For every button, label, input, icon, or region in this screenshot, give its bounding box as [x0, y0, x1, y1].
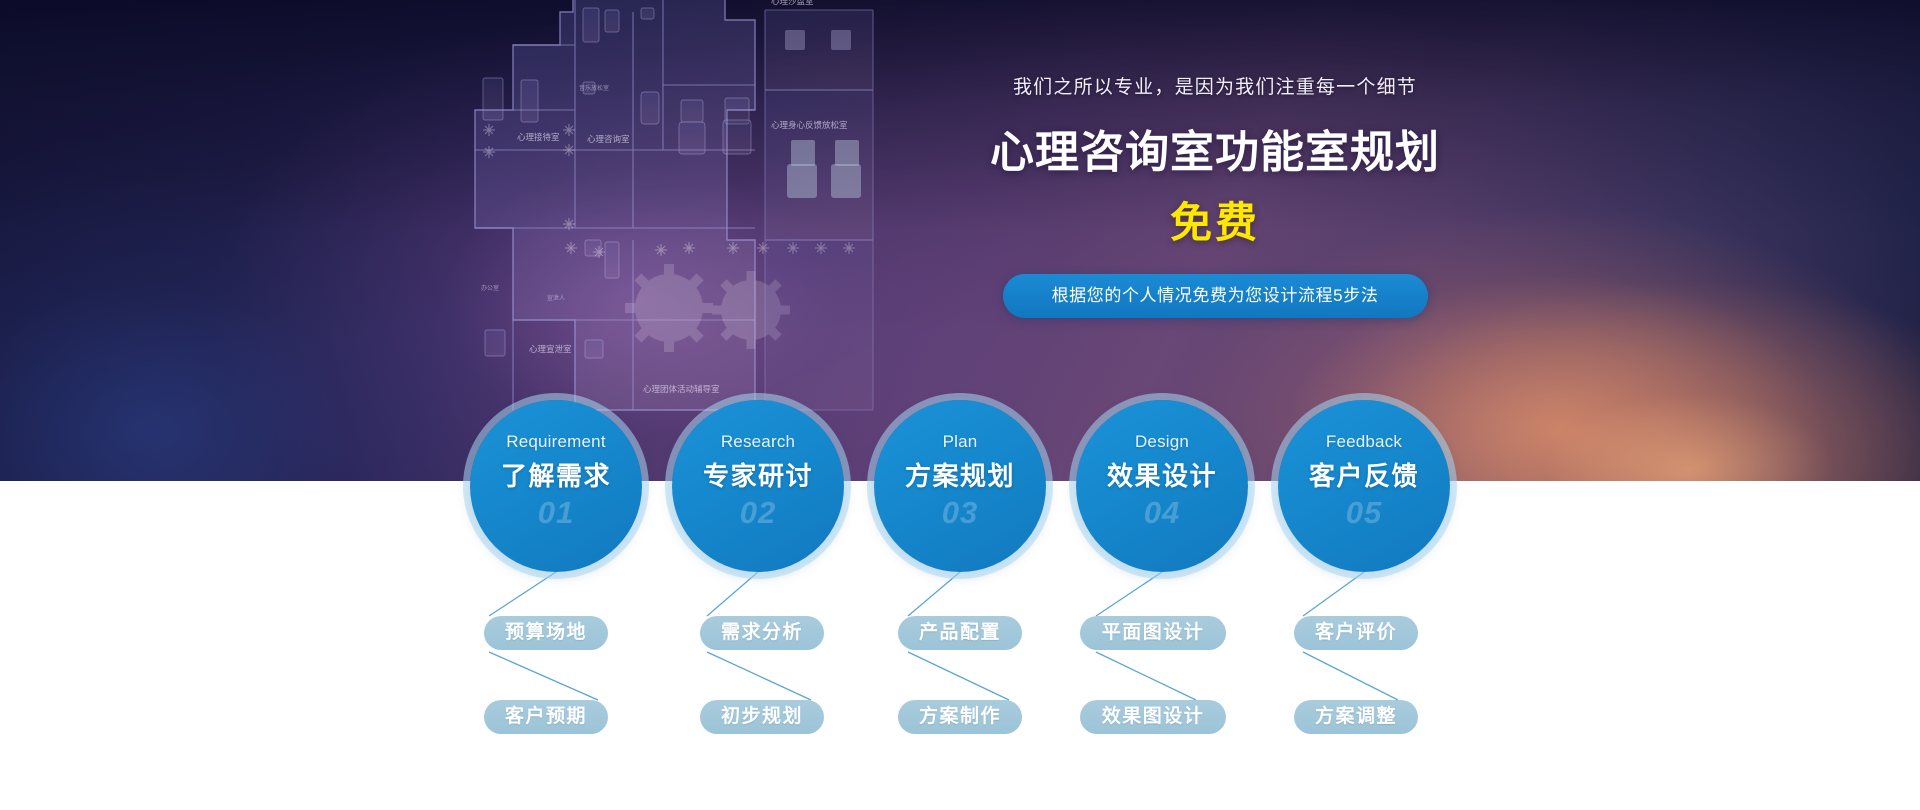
svg-text:音乐放松室: 音乐放松室 [579, 84, 609, 92]
step-5-tag-2[interactable]: 方案调整 [1294, 700, 1418, 734]
step-4-chinese: 效果设计 [1107, 456, 1217, 493]
svg-text:心理身心反馈放松室: 心理身心反馈放松室 [771, 120, 848, 130]
hero-subtitle: 我们之所以专业，是因为我们注重每一个细节 [955, 72, 1475, 99]
step-circle-3[interactable]: Plan 方案规划 03 [874, 400, 1046, 572]
step-1-number: 01 [538, 495, 574, 531]
step-3-tag-2[interactable]: 方案制作 [898, 700, 1022, 734]
step-2-english: Research [721, 432, 795, 452]
svg-text:宣泄人: 宣泄人 [547, 294, 565, 302]
svg-text:心理团体活动辅导室: 心理团体活动辅导室 [643, 384, 720, 394]
step-4-number: 04 [1144, 495, 1180, 531]
svg-text:心理接待室: 心理接待室 [517, 132, 560, 142]
step-5-chinese: 客户反馈 [1309, 456, 1419, 493]
step-4-tag-2[interactable]: 效果图设计 [1080, 700, 1226, 734]
step-circle-2[interactable]: Research 专家研讨 02 [672, 400, 844, 572]
svg-text:心理沙盘室: 心理沙盘室 [771, 0, 814, 6]
floorplan-right-wing [765, 10, 873, 410]
step-5-number: 05 [1346, 495, 1382, 531]
step-5-tag-1[interactable]: 客户评价 [1294, 616, 1418, 650]
step-circle-4[interactable]: Design 效果设计 04 [1076, 400, 1248, 572]
svg-text:心理宣泄室: 心理宣泄室 [529, 344, 572, 354]
step-1-english: Requirement [506, 432, 606, 452]
step-3-chinese: 方案规划 [905, 456, 1015, 493]
step-1-tag-1[interactable]: 预算场地 [484, 616, 608, 650]
step-4-tag-1[interactable]: 平面图设计 [1080, 616, 1226, 650]
step-circle-5[interactable]: Feedback 客户反馈 05 [1278, 400, 1450, 572]
step-1-chinese: 了解需求 [501, 456, 611, 493]
step-4-english: Design [1135, 432, 1189, 452]
svg-text:办公室: 办公室 [481, 284, 499, 292]
hero-title: 心理咨询室功能室规划 [955, 116, 1475, 180]
step-3-tag-1[interactable]: 产品配置 [898, 616, 1022, 650]
cta-button[interactable]: 根据您的个人情况免费为您设计流程5步法 [1003, 274, 1428, 318]
step-1-tag-2[interactable]: 客户预期 [484, 700, 608, 734]
svg-text:心理咨询室: 心理咨询室 [587, 134, 630, 144]
step-2-chinese: 专家研讨 [703, 456, 813, 493]
step-circle-1[interactable]: Requirement 了解需求 01 [470, 400, 642, 572]
hero-highlight: 免费 [955, 189, 1475, 250]
step-3-number: 03 [942, 495, 978, 531]
step-2-tag-1[interactable]: 需求分析 [700, 616, 824, 650]
floorplan-outline [475, 0, 755, 410]
step-2-number: 02 [740, 495, 776, 531]
step-2-tag-2[interactable]: 初步规划 [700, 700, 824, 734]
step-5-english: Feedback [1326, 432, 1402, 452]
step-3-english: Plan [943, 432, 978, 452]
